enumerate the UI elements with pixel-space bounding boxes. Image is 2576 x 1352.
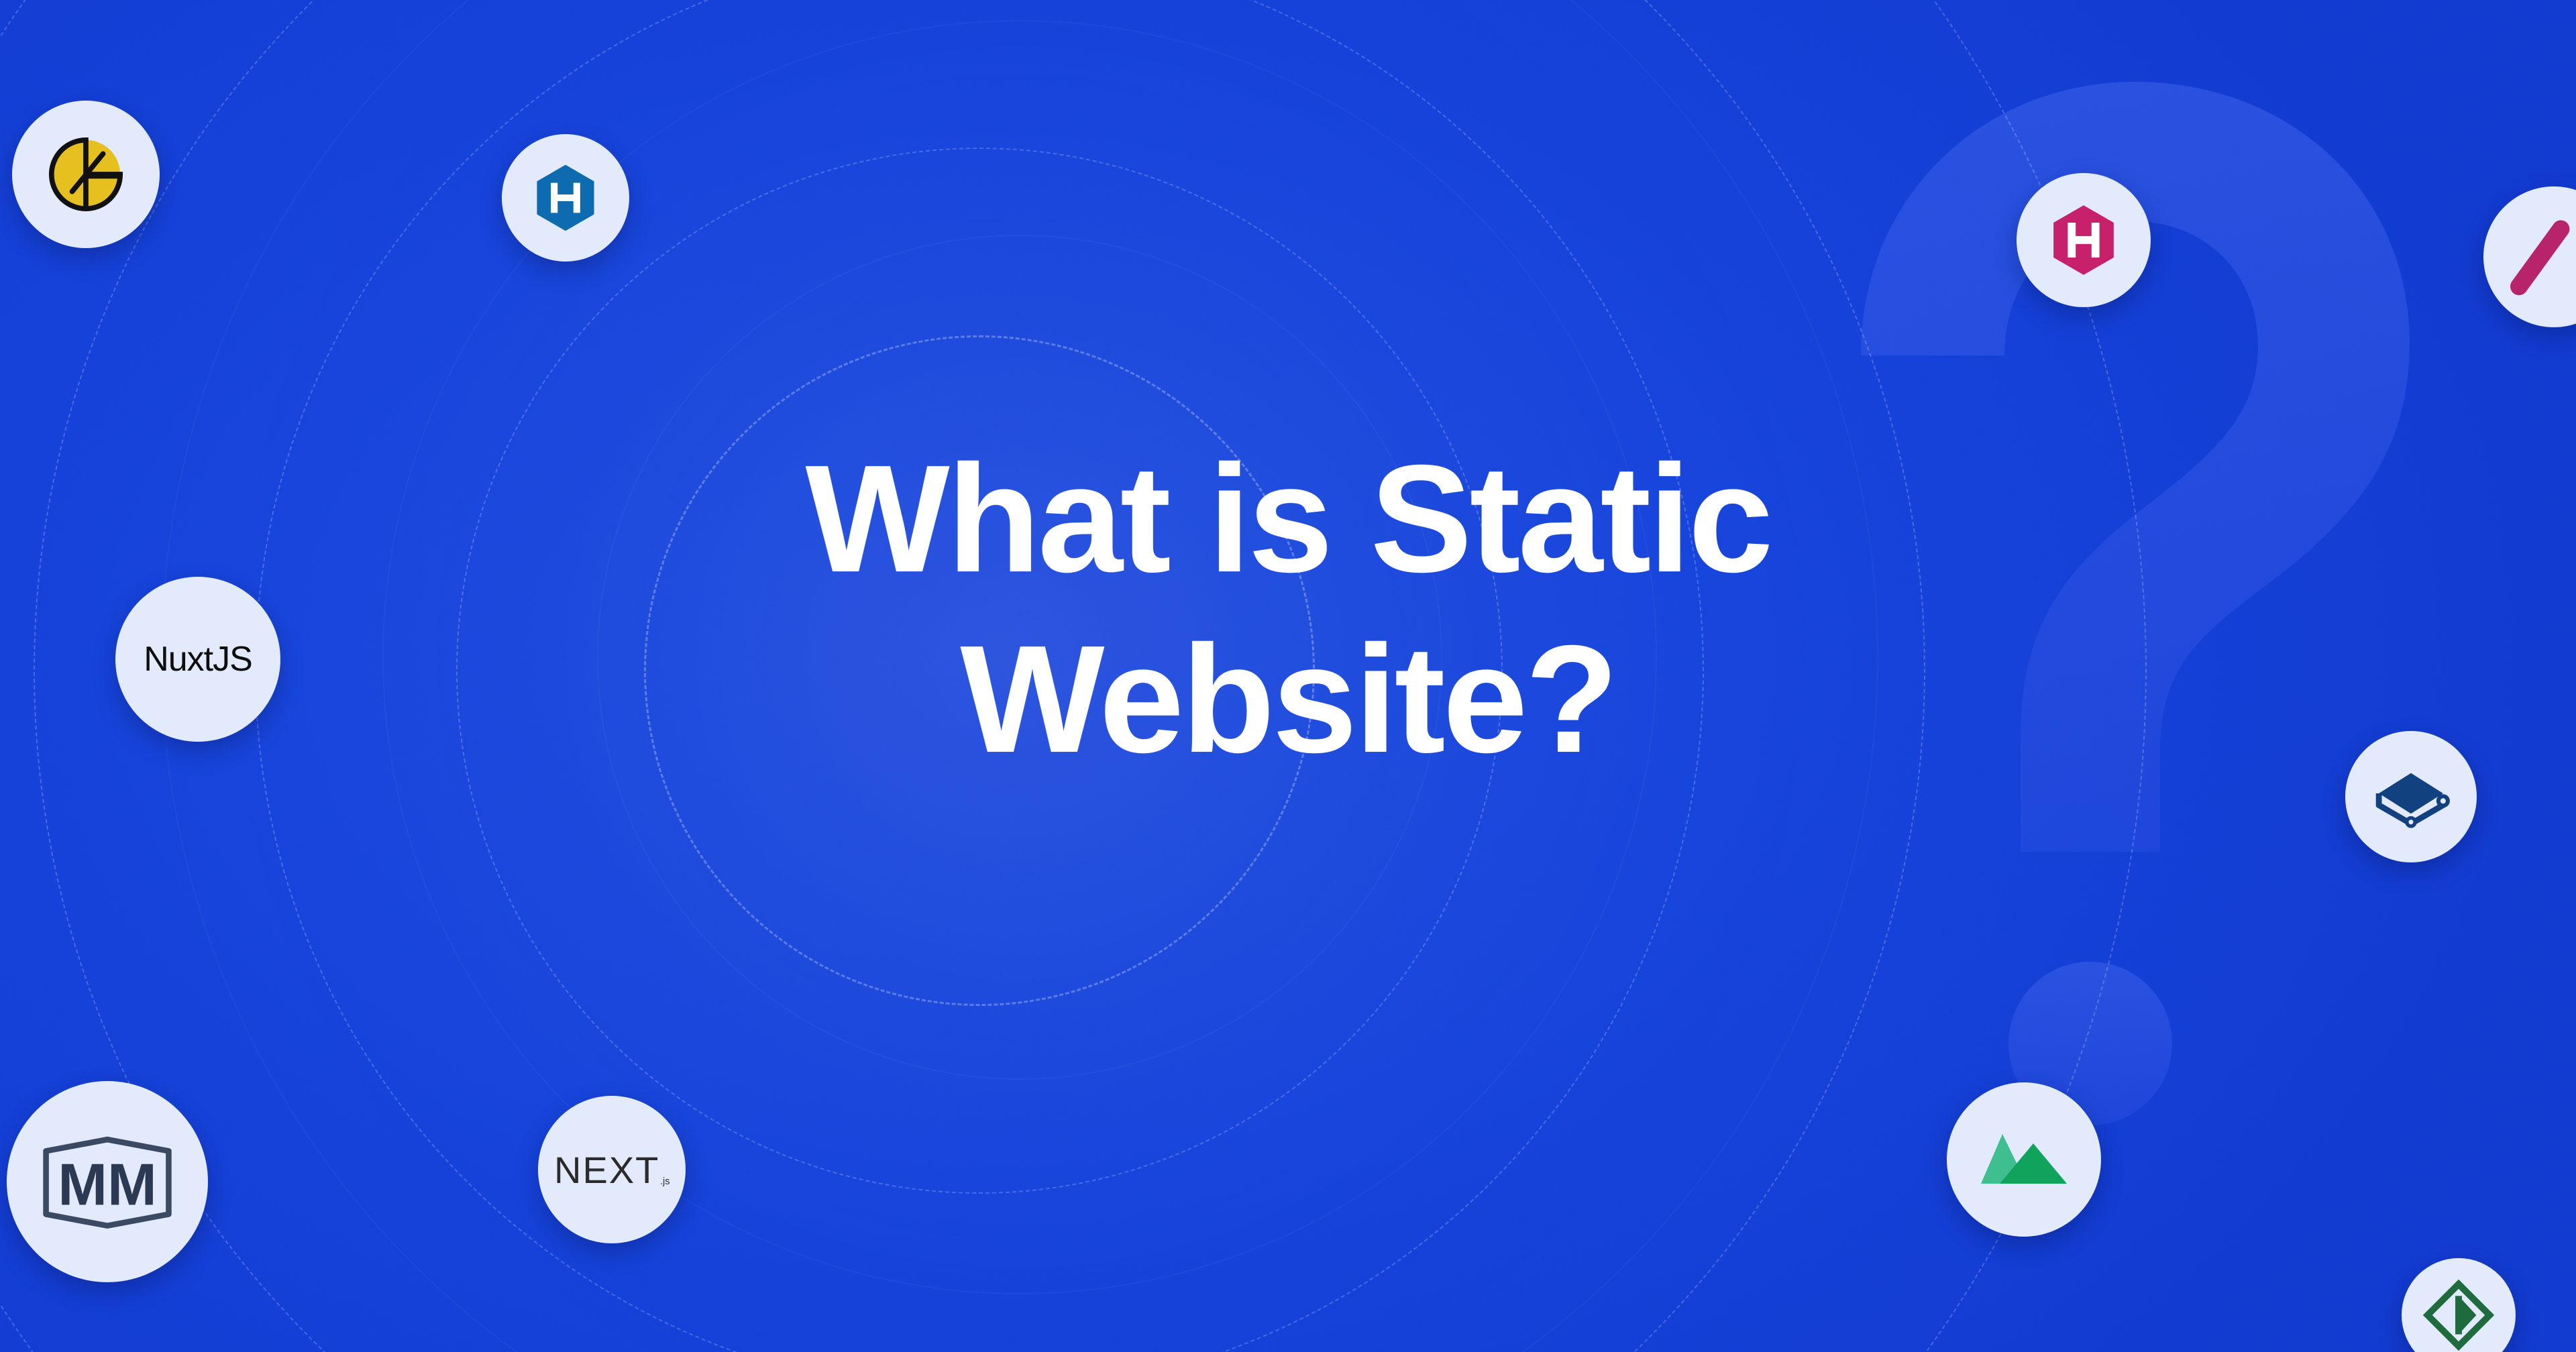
logo-bubble-hexo — [502, 134, 629, 262]
nextjs-wordmark-sublabel: .js — [660, 1176, 670, 1187]
page-title-line-1: What is Static — [0, 429, 2576, 610]
logo-bubble-nextjs: NEXT.js — [538, 1096, 686, 1243]
nuxt-mountain-logo-icon — [1947, 1082, 2101, 1237]
svg-text:MM: MM — [58, 1151, 157, 1217]
page-title: What is Static Website? — [0, 429, 2576, 790]
logo-bubble-middleman: MM — [7, 1081, 208, 1282]
middleman-logo-icon: MM — [7, 1081, 208, 1282]
logo-bubble-nuxt-mountains — [1947, 1082, 2101, 1237]
nextjs-wordmark-icon: NEXT.js — [538, 1096, 686, 1243]
page-title-line-2: Website? — [0, 610, 2576, 790]
hugo-logo-icon — [2017, 173, 2151, 307]
hero-banner: What is Static Website? — [0, 0, 2576, 1352]
gatsby-logo-icon — [12, 101, 160, 248]
nextjs-wordmark-label: NEXT — [554, 1149, 659, 1191]
logo-bubble-hugo — [2017, 173, 2151, 307]
hexo-logo-icon — [502, 134, 629, 262]
logo-bubble-gatsby — [12, 101, 160, 248]
